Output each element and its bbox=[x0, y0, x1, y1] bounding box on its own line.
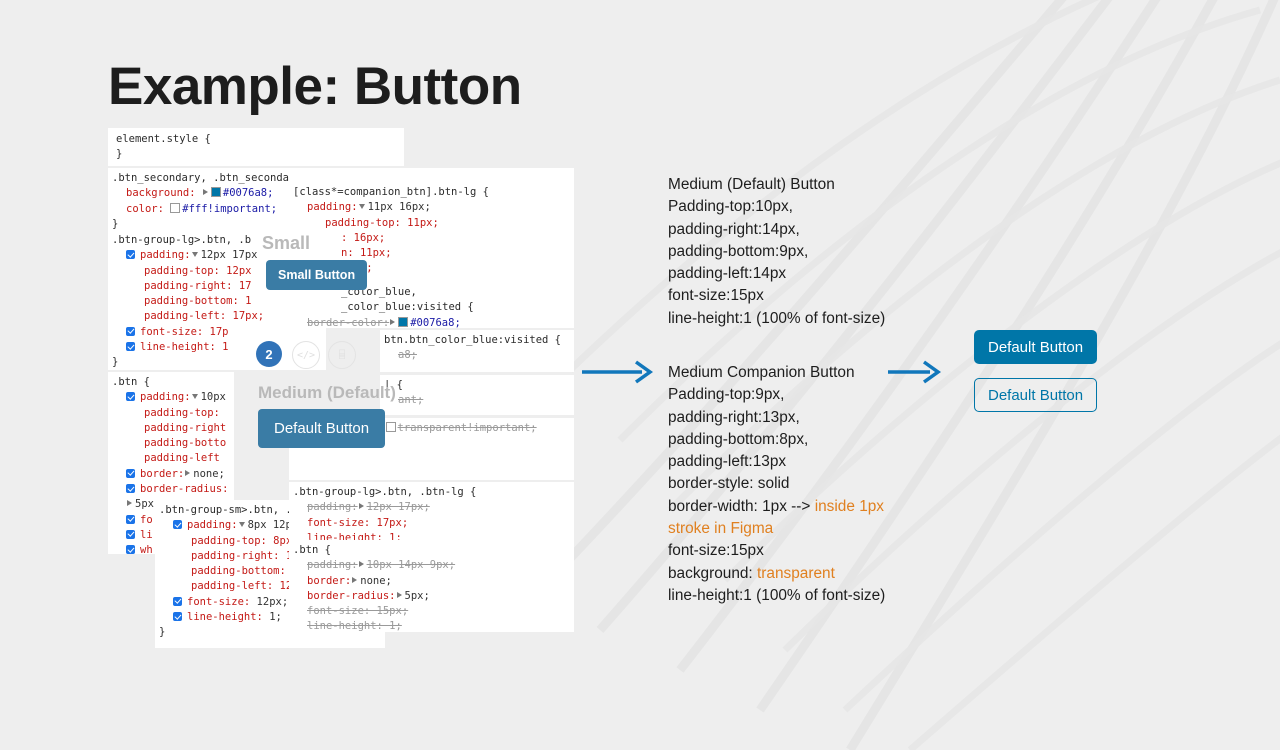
css-property-name: border-color: bbox=[307, 317, 389, 328]
spec-medium-companion-button: Medium Companion Button Padding-top:9px,… bbox=[668, 362, 928, 607]
spec-line-border-width: border-width: 1px --> inside 1px stroke … bbox=[668, 496, 928, 541]
css-declaration-struck: ant; bbox=[380, 393, 574, 408]
css-declaration-line-height-struck: line-height: 1; bbox=[289, 619, 574, 632]
expand-triangle-icon[interactable] bbox=[352, 577, 357, 583]
css-property-value: #0076a8; bbox=[223, 187, 274, 199]
preview-default-button[interactable]: Default Button bbox=[258, 409, 385, 448]
spec-line: font-size:15px bbox=[668, 540, 928, 562]
devtools-panel-btn-2: .btn { padding:10px 14px 9px; border:non… bbox=[289, 540, 574, 632]
css-property-name: border: bbox=[140, 468, 184, 480]
checkbox-enabled-icon[interactable] bbox=[126, 469, 135, 478]
spec-line: padding-left:14px bbox=[668, 263, 928, 285]
checkbox-enabled-icon[interactable] bbox=[126, 530, 135, 539]
spec-line: line-height:1 (100% of font-size) bbox=[668, 585, 928, 607]
devtools-panel-visited: btn.btn_color_blue:visited { a8; bbox=[380, 330, 574, 372]
checkbox-enabled-icon[interactable] bbox=[126, 250, 135, 259]
preview-small-label: Small bbox=[262, 233, 310, 254]
css-property-value: 12px 17px bbox=[201, 249, 258, 261]
device-icon[interactable]: ⌸ bbox=[328, 341, 356, 369]
css-property-name: font-size: bbox=[187, 596, 250, 608]
spec-line: Padding-top:10px, bbox=[668, 196, 928, 218]
css-declaration-padding-left: padding-left bbox=[108, 451, 234, 466]
checkbox-enabled-icon[interactable] bbox=[173, 520, 182, 529]
css-declaration-border: border:none; bbox=[289, 574, 574, 589]
checkbox-enabled-icon[interactable] bbox=[126, 545, 135, 554]
css-selector: btn.btn_color_blue:visited { bbox=[380, 333, 574, 348]
css-property-name: border: bbox=[307, 575, 351, 587]
arrow-right-1 bbox=[580, 358, 660, 386]
css-text: font-size: 17p bbox=[140, 326, 229, 338]
checkbox-enabled-icon[interactable] bbox=[126, 342, 135, 351]
css-property-name: color: bbox=[126, 203, 164, 215]
css-property-value: transparent!important; bbox=[398, 422, 537, 434]
css-selector: .btn { bbox=[108, 375, 234, 390]
css-close-brace: } bbox=[112, 147, 404, 162]
spec-line: Padding-top:9px, bbox=[668, 384, 928, 406]
checkbox-enabled-icon[interactable] bbox=[173, 597, 182, 606]
devtools-panel-element-style: element.style { } bbox=[108, 128, 404, 166]
page-title: Example: Button bbox=[108, 59, 522, 115]
expand-triangle-icon[interactable] bbox=[390, 319, 395, 325]
checkbox-enabled-icon[interactable] bbox=[126, 484, 135, 493]
spec-text-plain: background: bbox=[668, 565, 757, 582]
css-property-name: padding: bbox=[140, 391, 191, 403]
collapse-triangle-icon[interactable] bbox=[192, 252, 198, 257]
css-property-value: 12px; bbox=[257, 596, 289, 608]
css-declaration-font-size: font-size: 17px; bbox=[289, 516, 574, 531]
css-declaration-padding: padding:10px bbox=[108, 390, 234, 405]
spec-text-highlight: transparent bbox=[757, 565, 835, 582]
css-property-name: border-radius: bbox=[140, 483, 229, 495]
css-selector: | { bbox=[380, 378, 574, 393]
color-swatch-icon[interactable] bbox=[211, 187, 221, 197]
css-property-name: border-radius: bbox=[307, 590, 396, 602]
css-declaration-padding-bottom: padding-botto bbox=[108, 436, 234, 451]
css-text: wh bbox=[140, 544, 153, 554]
css-property-name: padding: bbox=[187, 519, 238, 531]
css-declaration-border-color: border-color:#0076a8; bbox=[289, 316, 574, 328]
spec-line: padding-left:13px bbox=[668, 451, 928, 473]
css-declaration-padding-struck: padding:12px 17px; bbox=[289, 500, 574, 515]
css-selector: element.style { bbox=[112, 132, 404, 147]
css-property-value: none; bbox=[360, 575, 392, 587]
css-selector: .btn { bbox=[289, 543, 574, 558]
collapse-triangle-icon[interactable] bbox=[239, 522, 245, 527]
css-declaration-padding-top: padding-top: 11px; bbox=[289, 216, 574, 231]
checkbox-enabled-icon[interactable] bbox=[173, 612, 182, 621]
css-property-value: 11px 16px; bbox=[368, 201, 431, 213]
color-swatch-icon[interactable] bbox=[386, 422, 396, 432]
css-property-name: background: bbox=[126, 187, 196, 199]
spec-line: border-style: solid bbox=[668, 473, 928, 495]
css-property-name: padding: bbox=[307, 501, 358, 513]
arrow-right-2 bbox=[888, 358, 950, 386]
css-property-value: #fff!important; bbox=[182, 203, 277, 215]
color-swatch-icon[interactable] bbox=[398, 317, 408, 327]
devtools-panel-btn-group-lg-2: .btn-group-lg>.btn, .btn-lg { padding:12… bbox=[289, 482, 574, 544]
spec-line-background: background: transparent bbox=[668, 563, 928, 585]
css-declaration-font-size-struck: font-size: 15px; bbox=[289, 604, 574, 619]
css-property-value: 10px 14px 9px; bbox=[367, 559, 456, 571]
spec-medium-default-button: Medium (Default) Button Padding-top:10px… bbox=[668, 174, 928, 330]
collapse-triangle-icon[interactable] bbox=[359, 204, 365, 209]
expand-triangle-icon[interactable] bbox=[185, 470, 190, 476]
css-selector: [class*=companion_btn].btn-lg { bbox=[289, 185, 574, 200]
css-property-value: 5px; bbox=[405, 590, 430, 602]
checkbox-enabled-icon[interactable] bbox=[126, 515, 135, 524]
spec-line: padding-bottom:9px, bbox=[668, 241, 928, 263]
expand-triangle-icon[interactable] bbox=[359, 503, 364, 509]
devtools-panel-important: | { ant; bbox=[380, 375, 574, 415]
css-declaration-padding: padding:11px 16px; bbox=[289, 200, 574, 215]
css-property-name: padding: bbox=[140, 249, 191, 261]
css-property-name: padding: bbox=[307, 559, 358, 571]
code-icon[interactable]: </> bbox=[292, 341, 320, 369]
css-property-name: line-height: bbox=[187, 611, 263, 623]
css-property-value: 10px bbox=[201, 391, 226, 403]
css-declaration-padding-right: padding-right bbox=[108, 421, 234, 436]
css-declaration-padding-top: padding-top: bbox=[108, 406, 234, 421]
expand-triangle-icon[interactable] bbox=[203, 189, 208, 195]
step-badge-2: 2 bbox=[256, 341, 282, 367]
css-text: fo bbox=[140, 514, 153, 526]
css-declaration-padding-struck: padding:10px 14px 9px; bbox=[289, 558, 574, 573]
css-selector-line-2: _color_blue:visited { bbox=[289, 300, 574, 315]
css-text: li bbox=[140, 529, 153, 541]
preview-small-button[interactable]: Small Button bbox=[266, 260, 367, 290]
expand-triangle-icon[interactable] bbox=[359, 561, 364, 567]
css-text: line-height: 1 bbox=[140, 341, 229, 353]
expand-triangle-icon[interactable] bbox=[127, 500, 132, 506]
css-property-value: 1; bbox=[269, 611, 282, 623]
collapse-triangle-icon[interactable] bbox=[192, 394, 198, 399]
css-property-value: #0076a8; bbox=[410, 317, 461, 328]
preview-medium-label: Medium (Default) bbox=[258, 383, 396, 403]
checkbox-enabled-icon[interactable] bbox=[126, 327, 135, 336]
checkbox-enabled-icon[interactable] bbox=[126, 392, 135, 401]
spec-line: padding-right:13px, bbox=[668, 407, 928, 429]
spec-line: font-size:15px bbox=[668, 285, 928, 307]
css-declaration-padding-right: : 16px; bbox=[289, 231, 574, 246]
css-declaration-border-radius: border-radius:5px; bbox=[289, 589, 574, 604]
color-swatch-icon[interactable] bbox=[170, 203, 180, 213]
result-default-button-outline[interactable]: Default Button bbox=[974, 378, 1097, 412]
spec-line: line-height:1 (100% of font-size) bbox=[668, 308, 928, 330]
css-declaration-struck: a8; bbox=[380, 348, 574, 363]
css-declaration-border: border:none; bbox=[108, 467, 234, 482]
css-selector: .btn-group-lg>.btn, .btn-lg { bbox=[289, 485, 574, 500]
css-property-value: none; bbox=[193, 468, 225, 480]
spec-line: padding-bottom:8px, bbox=[668, 429, 928, 451]
css-property-value: 12px 17px; bbox=[367, 501, 430, 513]
spec-line: padding-right:14px, bbox=[668, 219, 928, 241]
spec-text-plain: border-width: 1px --> bbox=[668, 498, 815, 515]
expand-triangle-icon[interactable] bbox=[397, 592, 402, 598]
result-default-button-filled[interactable]: Default Button bbox=[974, 330, 1097, 364]
spec-heading: Medium (Default) Button bbox=[668, 174, 928, 196]
css-property-name: padding: bbox=[307, 201, 358, 213]
